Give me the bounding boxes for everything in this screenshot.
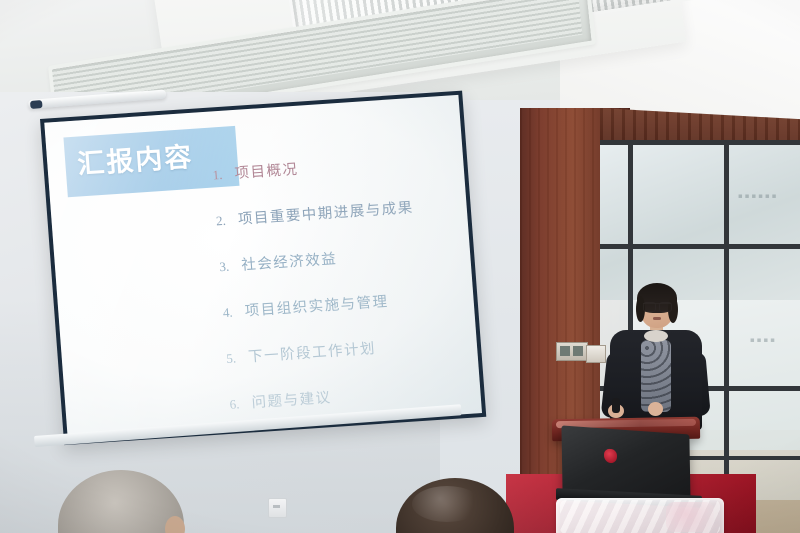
light-switch-panel[interactable] (556, 342, 588, 361)
glass-etched-text: ▪▪▪▪▪▪ (738, 192, 778, 200)
glass-etched-text: ▪▪▪▪ (750, 336, 777, 344)
laptop-brand-logo-icon (604, 448, 617, 463)
power-outlet[interactable] (268, 498, 287, 518)
audience-hair-highlight (412, 486, 482, 522)
projection-screen-surface: 汇报内容 1. 项目概况 2. 项目重要中期进展与成果 3. 社会经济效益 4.… (44, 95, 482, 441)
glasses-bridge-icon (643, 303, 671, 311)
package-highlight (666, 502, 714, 532)
presentation-remote[interactable] (612, 398, 620, 413)
power-outlet-slot (273, 505, 280, 508)
projection-screen-frame: 汇报内容 1. 项目概况 2. 项目重要中期进展与成果 3. 社会经济效益 4.… (40, 91, 486, 446)
light-switch-panel-secondary[interactable] (586, 345, 606, 363)
conference-room-photo: ▪▪▪▪▪▪ ▪▪▪▪ 汇报内容 1. 项目概况 2. 项目重要 (0, 0, 800, 533)
projector-screen-roller-cap (30, 100, 43, 109)
presenter-right-hand (648, 402, 663, 416)
presenter-mouth (653, 317, 661, 320)
presenter-collar (644, 330, 668, 342)
screen-glare (44, 95, 482, 441)
